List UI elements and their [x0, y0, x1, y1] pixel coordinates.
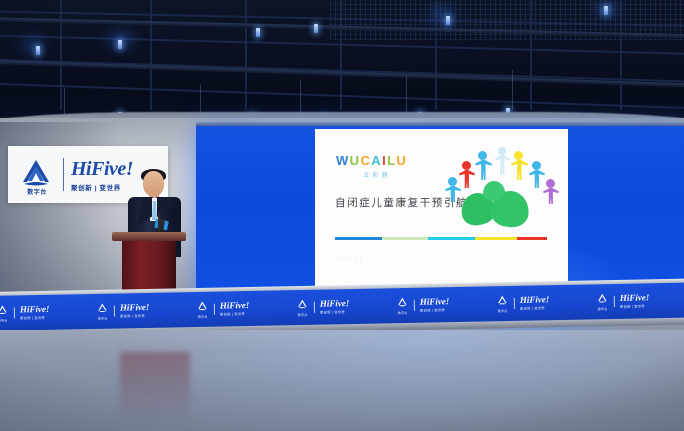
barrier-logo-block: 数字台 — [596, 292, 609, 311]
ceiling-truss — [530, 0, 532, 110]
mountain-logo-icon — [0, 304, 9, 317]
barrier-wordmark-block: HiFive!聚创新 | 变世界 — [320, 299, 350, 315]
slide-date: 2024.01 — [336, 257, 363, 263]
ceiling-wire — [512, 70, 513, 110]
color-bar-segment — [428, 237, 475, 240]
barrier-logo-cn: 数字台 — [596, 306, 609, 311]
ceiling-light-glow — [430, 10, 454, 20]
presentation-slide: WUCAILU 五彩鹿 自闭症儿童康复干预引航者 2024.01 — [315, 129, 568, 295]
barrier-logo-unit: 数字台HiFive!聚创新 | 变世界 — [296, 297, 350, 317]
color-bar-segment — [517, 237, 547, 240]
hifive-subtitle: 聚创新 | 变世界 — [120, 313, 150, 319]
mountain-logo-cn: 数字台 — [18, 187, 56, 196]
podium-top — [112, 232, 186, 241]
barrier-logo-unit: 数字台HiFive!聚创新 | 变世界 — [96, 301, 150, 321]
barrier-divider — [514, 298, 515, 309]
hanging-lamp — [118, 40, 122, 49]
ceiling — [0, 0, 684, 128]
wucailu-letter: U — [396, 154, 407, 167]
barrier-divider — [614, 296, 615, 307]
color-bar-segment — [382, 237, 429, 240]
conference-stage-photo: WUCAILU 五彩鹿 自闭症儿童康复干预引航者 2024.01 — [0, 0, 684, 431]
wucailu-logo: WUCAILU 五彩鹿 — [336, 154, 446, 179]
wucailu-logo-cn: 五彩鹿 — [336, 170, 418, 179]
barrier-logo-block: 数字台 — [196, 300, 209, 319]
hifive-wordmark: HiFive! — [420, 297, 450, 307]
hifive-wordmark: HiFive! — [20, 305, 50, 315]
barrier-logo-block: 数字台 — [96, 302, 109, 321]
wucailu-letter: U — [350, 154, 361, 167]
barrier-logo-block: 数字台 — [296, 298, 309, 317]
hifive-subtitle: 聚创新 | 变世界 — [220, 311, 250, 317]
wucailu-letter: L — [387, 154, 396, 167]
wucailu-letter: A — [371, 154, 382, 167]
barrier-logo-cn: 数字台 — [296, 311, 309, 316]
barrier-logo-unit: 数字台HiFive!聚创新 | 变世界 — [496, 293, 550, 313]
hanging-lamp — [314, 24, 318, 33]
hifive-subtitle: 聚创新 | 变世界 — [620, 303, 650, 309]
ceiling-light-glow — [22, 40, 44, 50]
barrier-logo-unit: 数字台HiFive!聚创新 | 变世界 — [0, 303, 50, 323]
barrier-wordmark-block: HiFive!聚创新 | 变世界 — [620, 293, 650, 309]
hifive-subtitle: 聚创新 | 变世界 — [320, 309, 350, 315]
hanging-lamp — [256, 28, 260, 37]
barrier-logo-unit: 数字台HiFive!聚创新 | 变世界 — [196, 299, 250, 319]
hanging-lamp — [36, 46, 40, 55]
slide-color-bar — [335, 237, 547, 240]
mountain-logo-icon: 数字台 — [16, 155, 56, 195]
children-around-globe-icon — [443, 147, 561, 233]
banner-divider — [63, 158, 64, 191]
wucailu-letter: W — [336, 154, 350, 167]
wucailu-wordmark: WUCAILU — [336, 154, 446, 167]
podium-floor-reflection — [120, 352, 190, 424]
wucailu-letter: C — [360, 154, 371, 167]
mountain-logo-icon — [396, 296, 409, 309]
barrier-wordmark-block: HiFive!聚创新 | 变世界 — [420, 297, 450, 313]
barrier-logo-cn: 数字台 — [96, 315, 109, 320]
hifive-wordmark: HiFive! — [120, 303, 150, 313]
barrier-wordmark-block: HiFive!聚创新 | 变世界 — [20, 305, 50, 321]
barrier-logo-block: 数字台 — [0, 304, 9, 323]
barrier-logo-cn: 数字台 — [496, 308, 509, 313]
globe-center-shape — [482, 180, 505, 201]
ceiling-truss — [150, 0, 152, 110]
color-bar-segment — [335, 237, 382, 240]
hifive-wordmark: HiFive! — [520, 295, 550, 305]
barrier-logo-unit: 数字台HiFive!聚创新 | 变世界 — [396, 295, 450, 315]
floor-light-sheen — [0, 330, 684, 431]
mountain-logo-icon — [496, 294, 509, 307]
mountain-logo-icon — [96, 302, 109, 315]
mountain-logo-icon — [196, 300, 209, 313]
mountain-logo-icon — [596, 292, 609, 305]
barrier-divider — [314, 302, 315, 313]
barrier-logo-cn: 数字台 — [396, 309, 409, 314]
hanging-lamp — [604, 6, 608, 15]
ceiling-beam — [0, 60, 684, 89]
color-bar-segment — [475, 237, 517, 240]
hifive-wordmark: HiFive! — [320, 299, 350, 309]
barrier-divider — [14, 307, 15, 318]
ceiling-truss — [340, 0, 342, 110]
hifive-subtitle: 聚创新 | 变世界 — [520, 305, 550, 311]
barrier-wordmark-block: HiFive!聚创新 | 变世界 — [120, 303, 150, 319]
barrier-logo-block: 数字台 — [496, 294, 509, 313]
hifive-subtitle: 聚创新 | 变世界 — [20, 315, 50, 321]
barrier-wordmark-block: HiFive!聚创新 | 变世界 — [520, 295, 550, 311]
barrier-divider — [114, 305, 115, 316]
podium-mic-stand — [158, 214, 160, 234]
barrier-logo-unit: 数字台HiFive!聚创新 | 变世界 — [596, 291, 650, 311]
barrier-logo-block: 数字台 — [396, 296, 409, 315]
barrier-divider — [214, 303, 215, 314]
hifive-wordmark: HiFive! — [220, 301, 250, 311]
hifive-wordmark: HiFive! — [620, 293, 650, 303]
barrier-wordmark-block: HiFive!聚创新 | 变世界 — [220, 301, 250, 317]
barrier-divider — [414, 300, 415, 311]
ceiling-truss — [245, 0, 247, 110]
ceiling-truss — [620, 0, 622, 110]
mountain-logo-icon — [296, 298, 309, 311]
barrier-logo-cn: 数字台 — [196, 313, 209, 318]
hanging-lamp — [446, 16, 450, 25]
ceiling-truss — [0, 82, 684, 111]
barrier-logo-cn: 数字台 — [0, 317, 9, 322]
ceiling-wire — [406, 76, 407, 114]
ceiling-truss — [60, 0, 62, 110]
hifive-subtitle: 聚创新 | 变世界 — [420, 307, 450, 313]
